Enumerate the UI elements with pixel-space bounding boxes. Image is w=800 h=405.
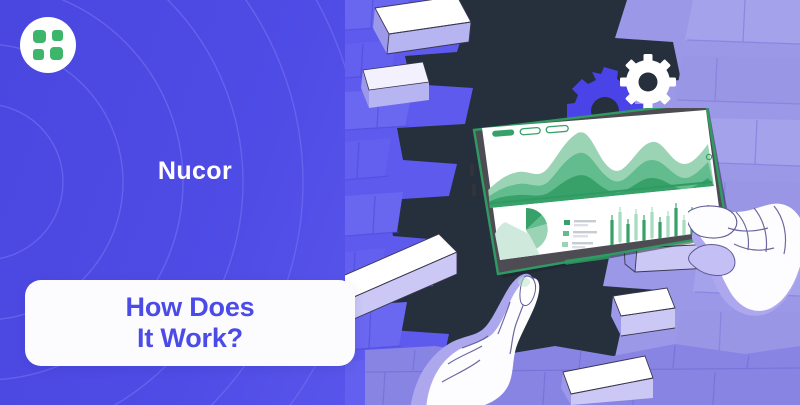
- logo-tile-bottom-right: [50, 47, 63, 60]
- hand-pointing-left: [400, 250, 600, 405]
- four-squares-logo-icon: [33, 30, 63, 60]
- headline-card[interactable]: How Does It Work?: [25, 280, 355, 366]
- hand-holding-right: [688, 178, 800, 318]
- logo-tile-top-right: [52, 30, 63, 41]
- brand-name: Nucor: [0, 157, 390, 186]
- power-button[interactable]: [472, 184, 476, 196]
- legend-item-2: [563, 231, 569, 236]
- flying-brick: [361, 62, 429, 108]
- volume-button[interactable]: [470, 164, 474, 176]
- logo-tile-bottom-left: [33, 49, 44, 60]
- promo-banner: Nucor How Does It Work?: [0, 0, 800, 405]
- page-title: How Does It Work?: [126, 292, 255, 355]
- gear-white-icon: [620, 54, 676, 110]
- legend-item-3: [562, 242, 568, 247]
- brand-logo[interactable]: [20, 17, 76, 73]
- legend-item-1: [564, 220, 570, 225]
- logo-tile-top-left: [33, 30, 46, 43]
